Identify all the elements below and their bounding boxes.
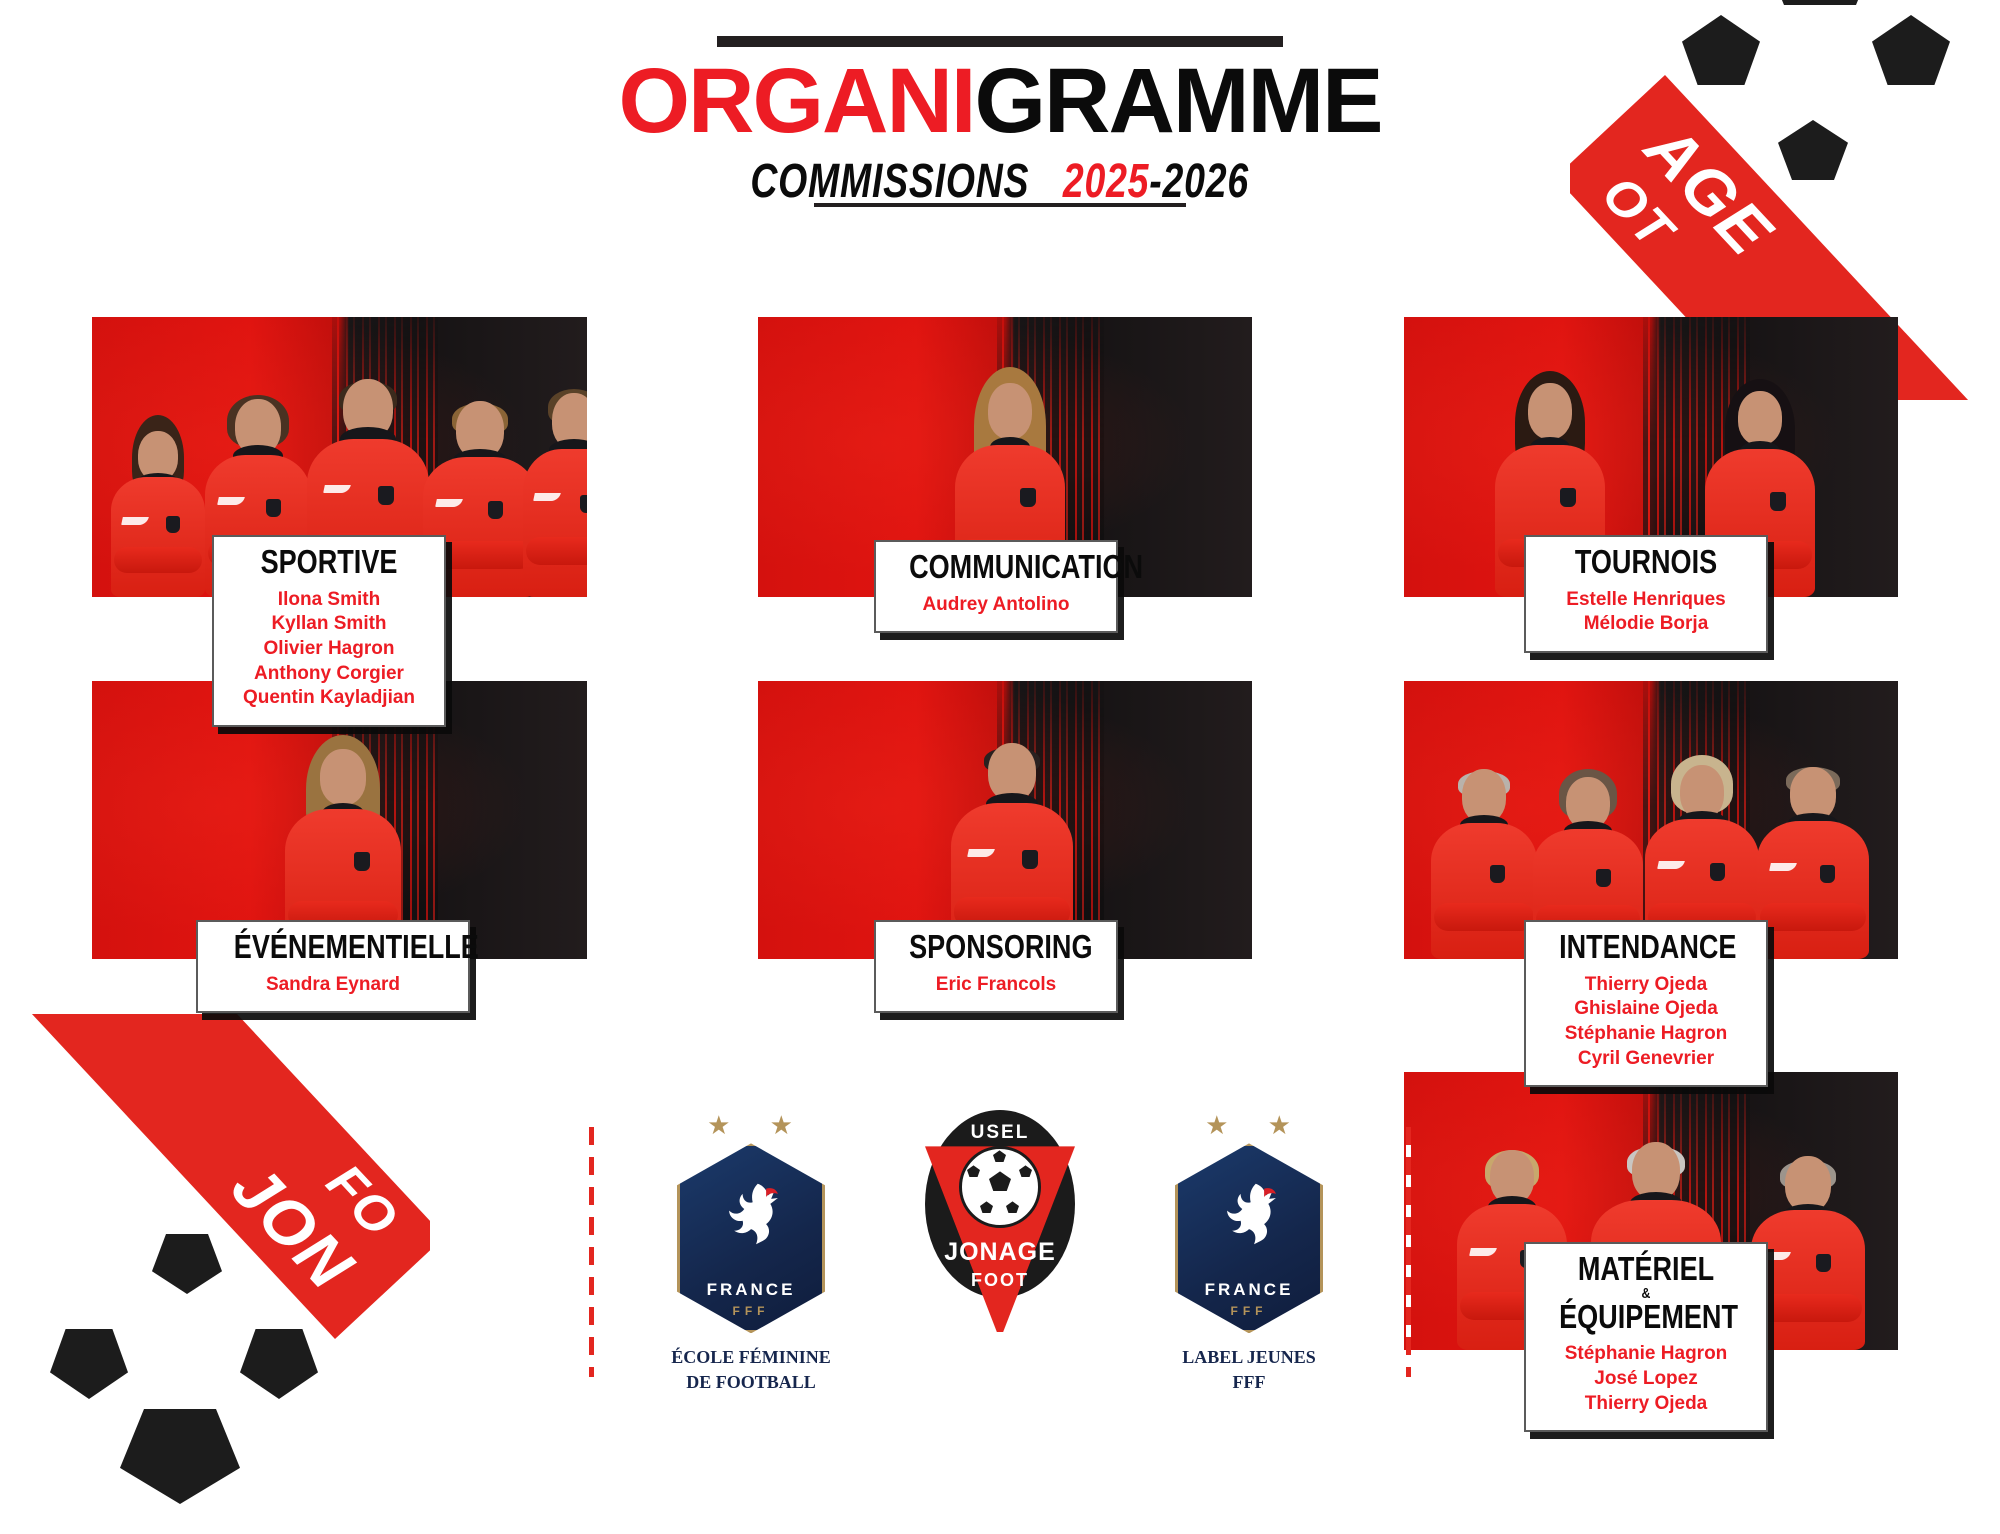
badge-name: FRANCE xyxy=(1178,1280,1320,1300)
title-rule xyxy=(717,36,1283,47)
rooster-icon xyxy=(1207,1172,1291,1256)
member-name: Eric Francols xyxy=(886,973,1106,998)
badge-caption: ÉCOLE FÉMININE DE FOOTBALL xyxy=(636,1345,866,1394)
member-name: Ilona Smith xyxy=(224,588,434,613)
commission-card-communication[interactable]: COMMUNICATION Audrey Antolino xyxy=(874,540,1118,633)
commission-title: INTENDANCE xyxy=(1548,922,1745,967)
soccer-ball-icon xyxy=(959,1146,1041,1228)
commission-card-materiel[interactable]: MATÉRIEL & ÉQUIPEMENT Stéphanie Hagron J… xyxy=(1524,1242,1768,1432)
commission-members: Estelle Henriques Mélodie Borja xyxy=(1526,582,1766,651)
stars-icon: ★ ★ xyxy=(650,1110,866,1141)
subtitle-year-end: -2026 xyxy=(1150,155,1250,208)
page-title-red: ORGANI xyxy=(618,50,974,152)
member-name: Stéphanie Hagron xyxy=(1536,1022,1756,1047)
member-name: Estelle Henriques xyxy=(1536,588,1756,613)
member-name: Sandra Eynard xyxy=(208,973,458,998)
club-badge-top-text: USEL xyxy=(920,1122,1080,1144)
commission-title-line-1: MATÉRIEL xyxy=(1578,1250,1714,1287)
team-photo-people xyxy=(1404,681,1898,959)
team-photo-people xyxy=(758,681,1252,959)
page-header: ORGANIGRAMME COMMISSIONS 2025-2026 xyxy=(0,0,2000,213)
badge-fff: FFF xyxy=(1178,1304,1320,1318)
commission-members: Ilona Smith Kyllan Smith Olivier Hagron … xyxy=(214,582,444,725)
member-name: Ghislaine Ojeda xyxy=(1536,997,1756,1022)
badge-caption-line-2: DE FOOTBALL xyxy=(636,1370,866,1394)
dashed-divider-left xyxy=(589,1127,594,1377)
commission-card-intendance[interactable]: INTENDANCE Thierry Ojeda Ghislaine Ojeda… xyxy=(1524,920,1768,1087)
commission-card-evenementielle[interactable]: ÉVÉNEMENTIELLE Sandra Eynard xyxy=(196,920,470,1013)
commission-title: SPONSORING xyxy=(898,922,1095,967)
subtitle-year-start: 2025 xyxy=(1063,155,1149,208)
commission-title-ampersand: & xyxy=(1559,1289,1733,1298)
page-title: ORGANIGRAMME xyxy=(0,53,2000,150)
rooster-icon xyxy=(709,1172,793,1256)
commission-title: COMMUNICATION xyxy=(898,542,1095,587)
page-subtitle: COMMISSIONS 2025-2026 xyxy=(0,150,2000,213)
commission-title: SPORTIVE xyxy=(235,537,424,582)
member-name: Audrey Antolino xyxy=(886,593,1106,618)
member-name: Kyllan Smith xyxy=(224,612,434,637)
commission-title: MATÉRIEL & ÉQUIPEMENT xyxy=(1548,1244,1745,1336)
subtitle-underline xyxy=(814,203,1186,207)
badge-ecole-feminine: ★ ★ FRANCE FFF ÉCOLE FÉMININE DE FOOTBAL… xyxy=(636,1110,866,1394)
badge-caption: LABEL JEUNES FFF xyxy=(1134,1345,1364,1394)
subtitle-label: COMMISSIONS xyxy=(751,155,1030,208)
commission-card-sportive[interactable]: SPORTIVE Ilona Smith Kyllan Smith Olivie… xyxy=(212,535,446,727)
dashed-divider-right xyxy=(1406,1127,1411,1377)
club-badge-main-text: JONAGE xyxy=(920,1238,1080,1267)
commission-members: Eric Francols xyxy=(876,967,1116,1012)
commission-photo-sponsoring xyxy=(758,681,1252,959)
member-name: Stéphanie Hagron xyxy=(1536,1342,1756,1367)
commission-members: Thierry Ojeda Ghislaine Ojeda Stéphanie … xyxy=(1526,967,1766,1086)
badge-caption-line-1: LABEL JEUNES xyxy=(1134,1345,1364,1369)
commission-photo-intendance xyxy=(1404,681,1898,959)
badge-caption-line-1: ÉCOLE FÉMININE xyxy=(636,1345,866,1369)
commission-card-sponsoring[interactable]: SPONSORING Eric Francols xyxy=(874,920,1118,1013)
member-name: José Lopez xyxy=(1536,1367,1756,1392)
badge-usel-jonage-foot: USEL JONAGE FOOT xyxy=(920,1110,1080,1335)
commission-members: Stéphanie Hagron José Lopez Thierry Ojed… xyxy=(1526,1336,1766,1430)
member-name: Cyril Genevrier xyxy=(1536,1047,1756,1072)
page-title-black: GRAMME xyxy=(974,50,1381,152)
commission-title-line-2: ÉQUIPEMENT xyxy=(1559,1298,1738,1335)
fff-shield-icon: FRANCE FFF xyxy=(677,1143,825,1333)
badge-caption-line-2: FFF xyxy=(1134,1370,1364,1394)
member-name: Quentin Kayladjian xyxy=(224,686,434,711)
stars-icon: ★ ★ xyxy=(1148,1110,1364,1141)
member-name: Anthony Corgier xyxy=(224,662,434,687)
member-name: Thierry Ojeda xyxy=(1536,1392,1756,1417)
member-name: Olivier Hagron xyxy=(224,637,434,662)
commission-members: Audrey Antolino xyxy=(876,587,1116,632)
commission-members: Sandra Eynard xyxy=(198,967,468,1012)
badge-name: FRANCE xyxy=(680,1280,822,1300)
member-name: Mélodie Borja xyxy=(1536,612,1756,637)
member-name: Thierry Ojeda xyxy=(1536,973,1756,998)
badge-fff: FFF xyxy=(680,1304,822,1318)
fff-shield-icon: FRANCE FFF xyxy=(1175,1143,1323,1333)
commission-title: ÉVÉNEMENTIELLE xyxy=(222,922,443,967)
commission-title: TOURNOIS xyxy=(1548,537,1745,582)
club-badge-sub-text: FOOT xyxy=(920,1270,1080,1291)
commission-card-tournois[interactable]: TOURNOIS Estelle Henriques Mélodie Borja xyxy=(1524,535,1768,653)
badge-label-jeunes: ★ ★ FRANCE FFF LABEL JEUNES FFF xyxy=(1134,1110,1364,1394)
